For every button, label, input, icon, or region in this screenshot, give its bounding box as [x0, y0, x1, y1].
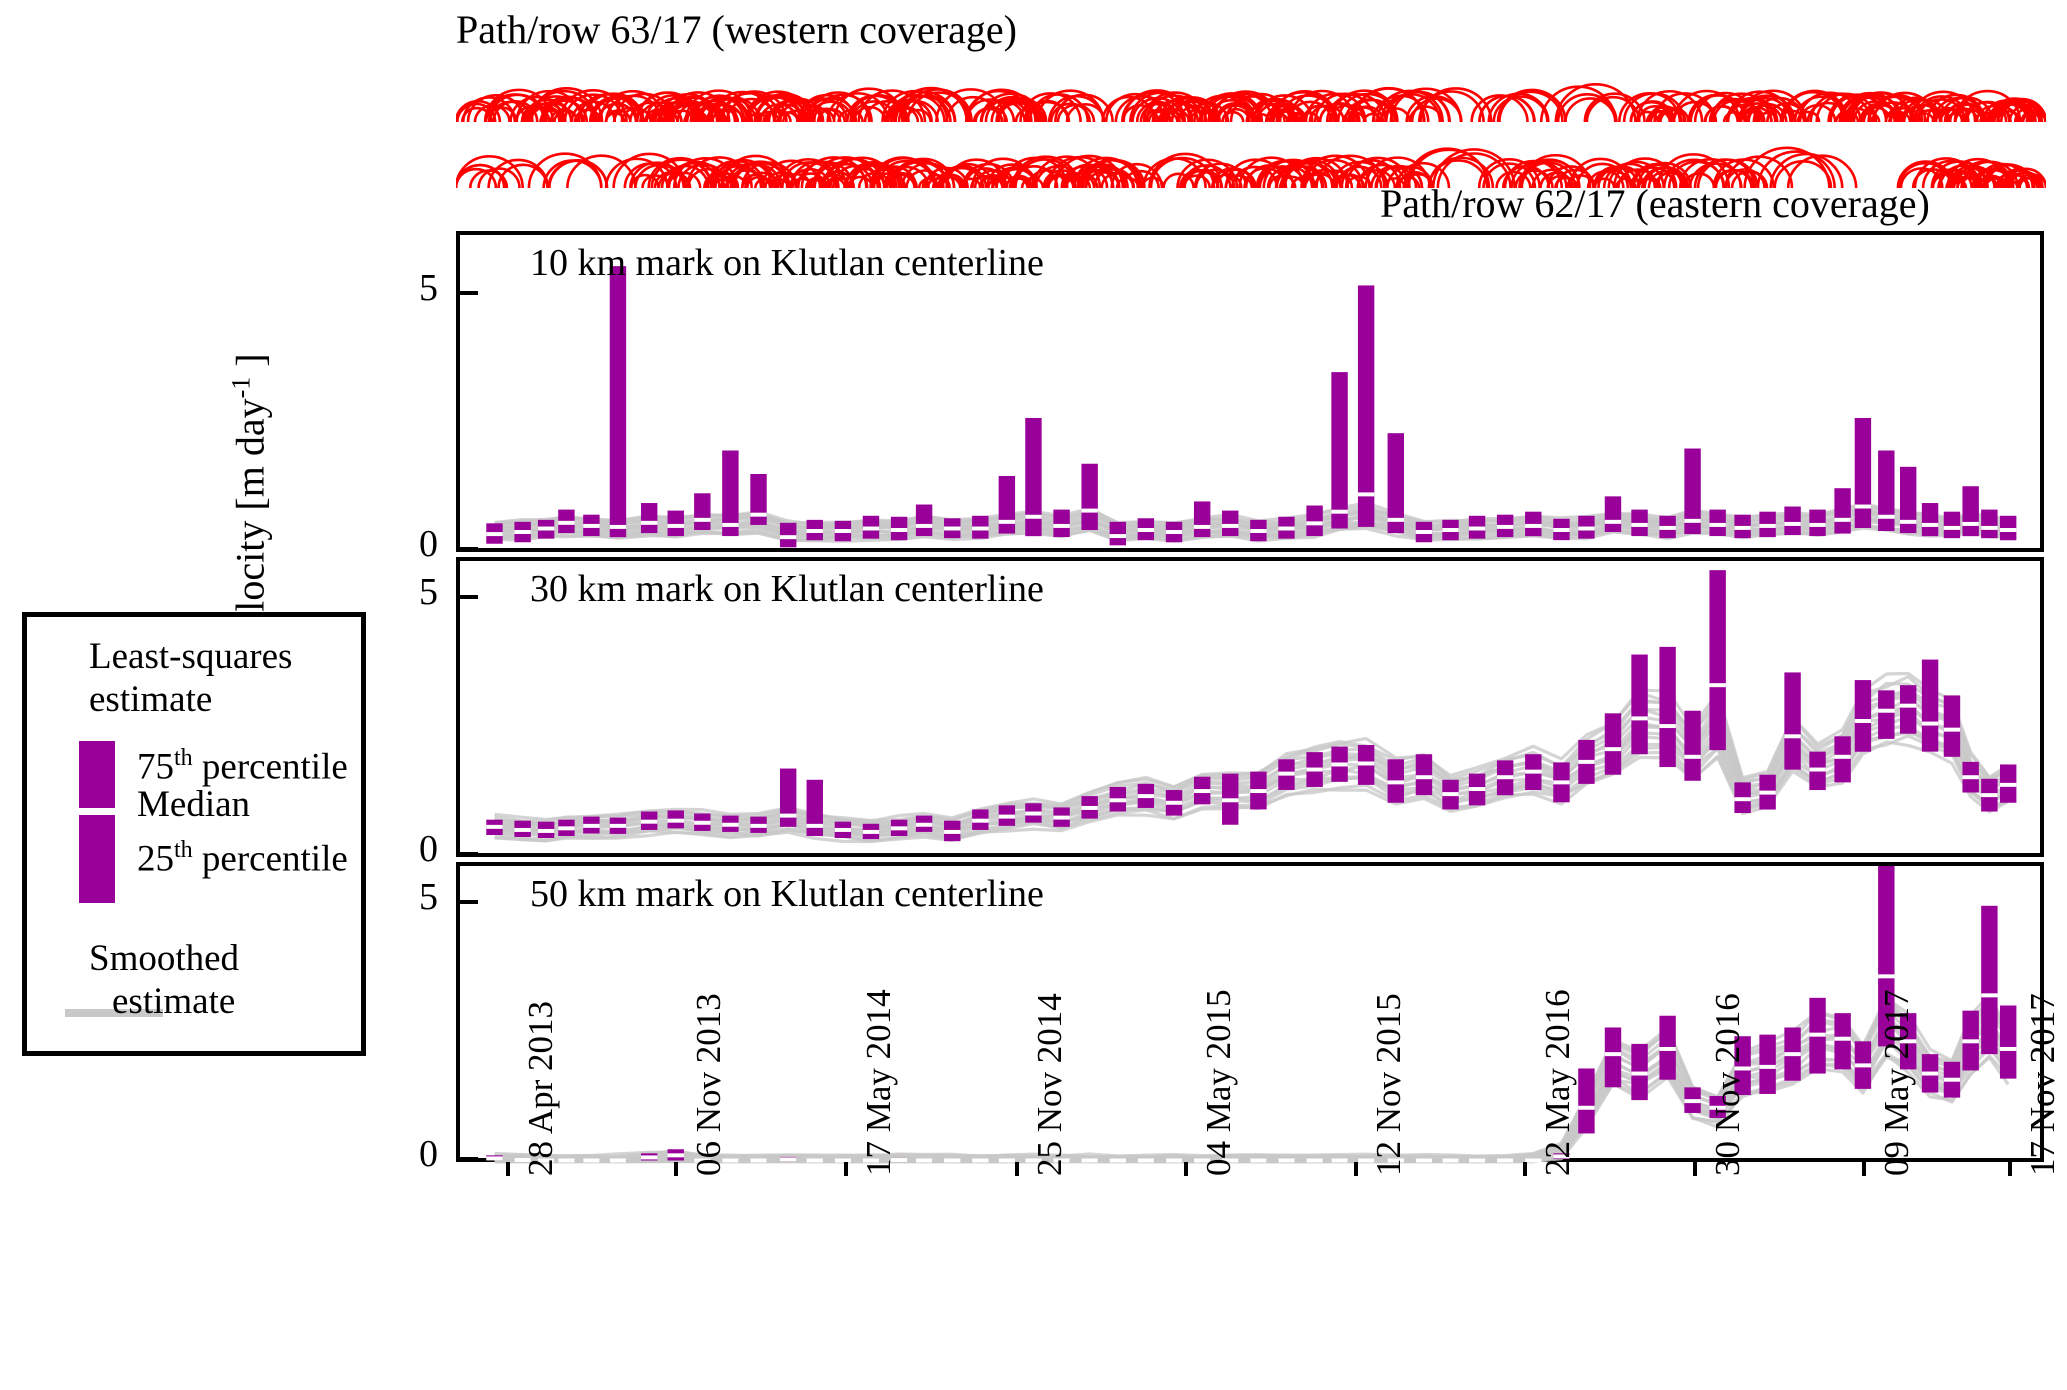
iqr-box — [1306, 506, 1322, 537]
y-axis-label-exponent: -1 — [226, 377, 255, 399]
median-tick — [1025, 515, 1041, 519]
iqr-box — [1709, 570, 1725, 750]
median-tick — [1166, 530, 1182, 534]
median-tick — [1416, 775, 1432, 779]
median-tick — [1166, 801, 1182, 805]
median-tick — [1194, 789, 1210, 793]
median-tick — [1053, 816, 1069, 820]
median-tick — [2000, 528, 2016, 532]
median-tick — [1900, 520, 1916, 524]
iqr-box — [1784, 672, 1800, 769]
legend: Least-squares estimate 75th percentile M… — [22, 612, 366, 1056]
iqr-box — [1659, 647, 1675, 767]
median-tick — [1278, 1159, 1294, 1163]
median-tick — [780, 535, 796, 539]
median-tick — [1784, 1052, 1800, 1056]
median-tick — [863, 830, 879, 834]
median-tick — [1878, 515, 1894, 519]
iqr-box — [1878, 690, 1894, 739]
iqr-box — [916, 505, 932, 537]
median-tick — [807, 529, 823, 533]
median-tick — [1878, 974, 1894, 978]
median-tick — [610, 824, 626, 828]
x-tick-mark — [1862, 1162, 1866, 1176]
median-tick — [944, 1159, 960, 1163]
median-tick — [1358, 761, 1374, 765]
x-tick-mark — [506, 1162, 510, 1176]
median-tick — [972, 1159, 988, 1163]
median-tick — [1222, 524, 1238, 528]
iqr-box — [1809, 510, 1825, 536]
median-tick — [1081, 806, 1097, 810]
median-tick — [750, 1159, 766, 1163]
median-tick — [807, 824, 823, 828]
iqr-box — [1784, 507, 1800, 536]
median-tick — [1855, 505, 1871, 509]
iqr-box — [1578, 1068, 1594, 1133]
median-tick — [668, 819, 684, 823]
x-tick-label: 06 Nov 2013 — [689, 993, 729, 1176]
iqr-box — [1194, 501, 1210, 537]
median-tick — [1834, 755, 1850, 759]
iqr-box — [694, 493, 710, 530]
median-tick — [2000, 783, 2016, 787]
y-tick-mark — [456, 547, 478, 551]
median-tick — [641, 521, 657, 525]
iqr-box — [1709, 510, 1725, 536]
y-tick-label: 0 — [378, 522, 438, 566]
coverage-title-west: Path/row 63/17 (western coverage) — [456, 8, 1017, 52]
x-tick-label: 30 Nov 2016 — [1708, 993, 1748, 1176]
x-tick-label: 17 May 2014 — [859, 989, 899, 1176]
y-tick-label: 0 — [378, 1132, 438, 1176]
x-tick-mark — [674, 1162, 678, 1176]
legend-median-line — [79, 808, 115, 815]
x-tick-mark — [844, 1162, 848, 1176]
median-tick — [1759, 791, 1775, 795]
x-tick-label: 17 Nov 2017 — [2023, 993, 2063, 1176]
median-tick — [722, 523, 738, 527]
median-tick — [1784, 522, 1800, 526]
median-tick — [1525, 770, 1541, 774]
median-tick — [1981, 526, 1997, 530]
iqr-box — [750, 474, 766, 525]
x-tick-mark — [1184, 1162, 1188, 1176]
median-tick — [1922, 722, 1938, 726]
median-tick — [1631, 1072, 1647, 1076]
median-tick — [1138, 528, 1154, 532]
median-tick — [1855, 1063, 1871, 1067]
median-tick — [1278, 772, 1294, 776]
legend-p25-number: 25 — [137, 838, 174, 879]
median-tick — [916, 1159, 932, 1163]
median-tick — [1110, 798, 1126, 802]
iqr-box — [1684, 711, 1700, 781]
iqr-box — [641, 503, 657, 533]
coverage-arcs-west — [456, 52, 2046, 124]
legend-median-label: Median — [137, 783, 250, 826]
iqr-box — [1834, 1013, 1850, 1069]
median-tick — [1962, 522, 1978, 526]
median-tick — [1416, 1159, 1432, 1163]
median-tick — [972, 819, 988, 823]
iqr-box — [1855, 680, 1871, 752]
iqr-box — [780, 769, 796, 827]
x-tick-mark — [1015, 1162, 1019, 1176]
median-tick — [1834, 1037, 1850, 1041]
iqr-box — [668, 511, 684, 536]
x-tick-mark — [1354, 1162, 1358, 1176]
median-tick — [750, 513, 766, 517]
x-tick-mark — [2008, 1162, 2012, 1176]
x-tick-label: 28 Apr 2013 — [521, 1001, 561, 1176]
legend-p75-rest: percentile — [193, 746, 348, 787]
legend-p75-number: 75 — [137, 746, 174, 787]
x-tick-label: 09 May 2017 — [1877, 989, 1917, 1176]
iqr-box — [780, 523, 796, 547]
median-tick — [1110, 534, 1126, 538]
median-tick — [1605, 747, 1621, 751]
median-tick — [486, 532, 502, 536]
median-tick — [1981, 993, 1997, 997]
median-tick — [944, 830, 960, 834]
median-tick — [1944, 526, 1960, 530]
median-tick — [1734, 797, 1750, 801]
median-tick — [668, 524, 684, 528]
median-tick — [668, 1153, 684, 1157]
panel-10km: 10 km mark on Klutlan centerline — [456, 231, 2044, 552]
iqr-box — [1981, 510, 1997, 539]
panel-30km: 30 km mark on Klutlan centerline — [456, 557, 2044, 857]
iqr-box — [1759, 1035, 1775, 1094]
median-tick — [916, 524, 932, 528]
median-tick — [1684, 755, 1700, 759]
legend-p25-rest: percentile — [193, 838, 348, 879]
median-tick — [1388, 780, 1404, 784]
median-tick — [641, 1155, 657, 1159]
legend-smoothed-line1: Smoothed — [89, 937, 239, 980]
median-tick — [1809, 523, 1825, 527]
median-tick — [1900, 704, 1916, 708]
panel-title-30km: 30 km mark on Klutlan centerline — [530, 569, 1044, 609]
median-tick — [1194, 525, 1210, 529]
legend-p75-suffix: th — [174, 745, 193, 771]
median-tick — [999, 815, 1015, 819]
iqr-box — [1855, 418, 1871, 528]
median-tick — [891, 826, 907, 830]
y-tick-mark — [456, 1157, 478, 1161]
median-tick — [1166, 1159, 1182, 1163]
median-tick — [1138, 1159, 1154, 1163]
median-tick — [1442, 792, 1458, 796]
median-tick — [2000, 1047, 2016, 1051]
median-tick — [1442, 528, 1458, 532]
smoothed-estimate-bundle — [495, 673, 2009, 841]
median-tick — [1469, 1159, 1485, 1163]
median-tick — [1053, 524, 1069, 528]
iqr-box — [1222, 511, 1238, 536]
median-tick — [1759, 1065, 1775, 1069]
y-tick-label: 5 — [378, 875, 438, 919]
median-tick — [1709, 683, 1725, 687]
iqr-box — [1605, 496, 1621, 532]
median-tick — [538, 829, 554, 833]
median-tick — [1110, 1159, 1126, 1163]
median-tick — [1759, 524, 1775, 528]
y-axis-label-close: ] — [228, 353, 273, 376]
median-tick — [1331, 1159, 1347, 1163]
iqr-box — [999, 476, 1015, 534]
median-tick — [863, 527, 879, 531]
median-tick — [1306, 1159, 1322, 1163]
median-tick — [583, 1159, 599, 1163]
iqr-box — [1981, 906, 1997, 1054]
median-tick — [750, 824, 766, 828]
median-tick — [1416, 530, 1432, 534]
legend-title-line2: estimate — [89, 678, 212, 721]
y-tick-mark — [456, 852, 478, 856]
median-tick — [1684, 519, 1700, 523]
median-tick — [835, 529, 851, 533]
legend-smoothed-line2: estimate — [112, 980, 235, 1023]
median-tick — [1922, 1072, 1938, 1076]
x-tick-label: 25 Nov 2014 — [1030, 993, 1070, 1176]
median-tick — [1250, 1159, 1266, 1163]
median-tick — [1659, 526, 1675, 530]
iqr-box — [1900, 685, 1916, 734]
median-tick — [1855, 719, 1871, 723]
coverage-arcs-east — [456, 118, 2046, 190]
iqr-box — [1358, 285, 1374, 526]
median-tick — [1631, 716, 1647, 720]
median-tick — [780, 1157, 796, 1161]
median-tick — [972, 527, 988, 531]
median-tick — [1834, 518, 1850, 522]
median-tick — [1025, 812, 1041, 816]
iqr-box — [1631, 510, 1647, 536]
iqr-box — [1944, 695, 1960, 756]
median-tick — [1358, 492, 1374, 496]
median-tick — [486, 1156, 502, 1160]
median-tick — [1497, 525, 1513, 529]
median-tick — [558, 521, 574, 525]
median-tick — [944, 527, 960, 531]
iqr-box — [1944, 512, 1960, 538]
median-tick — [1306, 521, 1322, 525]
median-tick — [835, 828, 851, 832]
median-tick — [558, 826, 574, 830]
median-tick — [722, 823, 738, 827]
legend-p25-suffix: th — [174, 837, 193, 863]
x-tick-mark — [1693, 1162, 1697, 1176]
median-tick — [1631, 523, 1647, 527]
iqr-box — [1922, 503, 1938, 536]
median-tick — [1709, 523, 1725, 527]
median-tick — [1981, 793, 1997, 797]
figure-root: Path/row 63/17 (western coverage) Path/r… — [0, 0, 2067, 1390]
x-tick-mark — [1523, 1162, 1527, 1176]
median-tick — [1388, 518, 1404, 522]
panel-title-50km: 50 km mark on Klutlan centerline — [530, 874, 1044, 914]
median-tick — [1081, 509, 1097, 513]
box-series — [486, 266, 2016, 547]
median-tick — [1784, 734, 1800, 738]
median-tick — [694, 821, 710, 825]
iqr-box — [1834, 488, 1850, 533]
median-tick — [1525, 524, 1541, 528]
median-tick — [1250, 789, 1266, 793]
x-tick-label: 04 May 2015 — [1199, 989, 1239, 1176]
iqr-box — [1962, 486, 1978, 536]
iqr-box — [1081, 464, 1097, 530]
median-tick — [1578, 1106, 1594, 1110]
median-tick — [1605, 520, 1621, 524]
iqr-box — [610, 266, 626, 537]
median-tick — [486, 825, 502, 829]
median-tick — [891, 528, 907, 532]
x-tick-label: 12 Nov 2015 — [1369, 993, 1409, 1176]
median-tick — [694, 518, 710, 522]
median-tick — [1331, 762, 1347, 766]
median-tick — [1469, 787, 1485, 791]
median-tick — [1944, 728, 1960, 732]
median-tick — [999, 1159, 1015, 1163]
median-tick — [538, 527, 554, 531]
median-tick — [1497, 1159, 1513, 1163]
median-tick — [583, 824, 599, 828]
iqr-box — [1922, 660, 1938, 752]
median-tick — [1497, 775, 1513, 779]
y-tick-mark — [456, 595, 478, 599]
x-tick-label: 22 May 2016 — [1538, 989, 1578, 1176]
iqr-box — [1605, 1027, 1621, 1087]
median-tick — [1878, 709, 1894, 713]
median-tick — [1809, 768, 1825, 772]
y-tick-mark — [456, 900, 478, 904]
median-tick — [610, 525, 626, 529]
median-tick — [1081, 1159, 1097, 1163]
median-tick — [1659, 1047, 1675, 1051]
median-tick — [1469, 527, 1485, 531]
median-tick — [1578, 527, 1594, 531]
iqr-box — [1631, 655, 1647, 755]
iqr-box — [1331, 372, 1347, 528]
median-tick — [1659, 724, 1675, 728]
legend-box-swatch — [79, 741, 115, 903]
box-series — [486, 570, 2016, 841]
median-tick — [780, 814, 796, 818]
iqr-box — [1416, 754, 1432, 795]
median-tick — [1684, 1099, 1700, 1103]
median-tick — [1734, 526, 1750, 530]
median-tick — [1306, 768, 1322, 772]
median-tick — [514, 828, 530, 832]
iqr-box — [1834, 736, 1850, 782]
iqr-box — [1605, 713, 1621, 774]
median-tick — [514, 530, 530, 534]
median-tick — [807, 1159, 823, 1163]
median-tick — [1962, 1039, 1978, 1043]
legend-title-line1: Least-squares — [89, 635, 292, 678]
median-tick — [1922, 523, 1938, 527]
median-tick — [1250, 529, 1266, 533]
median-tick — [1944, 1078, 1960, 1082]
median-tick — [641, 820, 657, 824]
median-tick — [1138, 794, 1154, 798]
median-tick — [1809, 1033, 1825, 1037]
median-tick — [1222, 798, 1238, 802]
median-tick — [583, 524, 599, 528]
median-tick — [916, 823, 932, 827]
median-tick — [1553, 528, 1569, 532]
y-tick-mark — [456, 291, 478, 295]
median-tick — [1605, 1052, 1621, 1056]
median-tick — [999, 520, 1015, 524]
iqr-box — [1110, 522, 1126, 545]
median-tick — [1331, 510, 1347, 514]
legend-p25-label: 25th percentile — [137, 829, 348, 880]
iqr-box — [1053, 510, 1069, 537]
median-tick — [610, 1159, 626, 1163]
median-tick — [1278, 527, 1294, 531]
legend-p75-label: 75th percentile — [137, 737, 348, 788]
median-tick — [1962, 775, 1978, 779]
y-tick-label: 0 — [378, 827, 438, 871]
median-tick — [1578, 760, 1594, 764]
median-tick — [1553, 780, 1569, 784]
iqr-box — [2000, 1005, 2016, 1078]
y-tick-label: 5 — [378, 266, 438, 310]
panel-title-10km: 10 km mark on Klutlan centerline — [530, 243, 1044, 283]
y-tick-label: 5 — [378, 570, 438, 614]
iqr-box — [1878, 451, 1894, 531]
median-tick — [1442, 1159, 1458, 1163]
